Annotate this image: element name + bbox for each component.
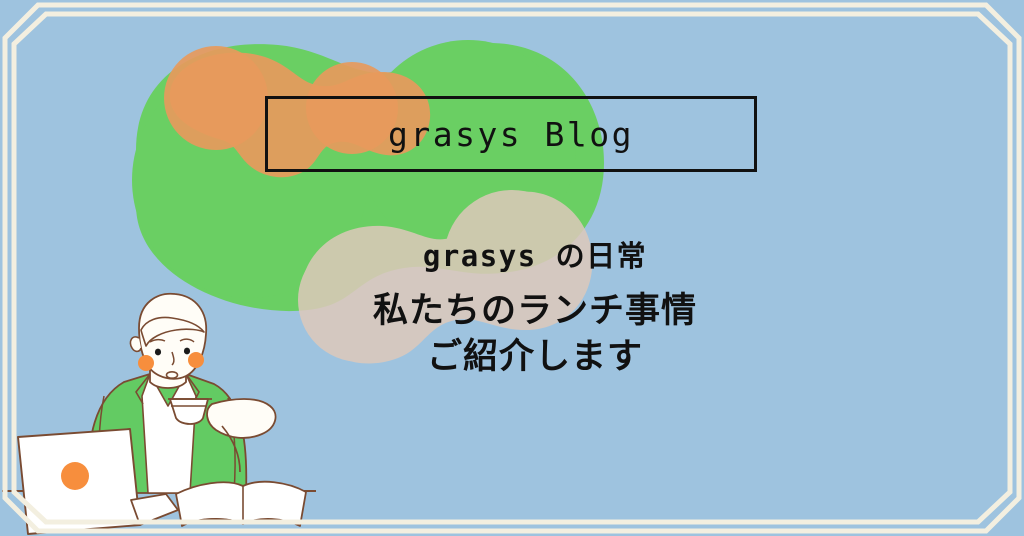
head-icon [130, 294, 206, 379]
open-book-icon [176, 482, 306, 526]
blog-banner: grasys Blog grasys の日常 私たちのランチ事情 ご紹介します [0, 0, 1024, 536]
headline-block: grasys の日常 私たちのランチ事情 ご紹介します [300, 238, 770, 381]
headline-subtitle: grasys の日常 [300, 238, 770, 274]
person-illustration [0, 286, 330, 536]
blog-title: grasys Blog [388, 118, 634, 151]
title-box: grasys Blog [265, 96, 757, 172]
headline-line-1: 私たちのランチ事情 [300, 288, 770, 334]
headline-line-2: ご紹介します [300, 334, 770, 380]
